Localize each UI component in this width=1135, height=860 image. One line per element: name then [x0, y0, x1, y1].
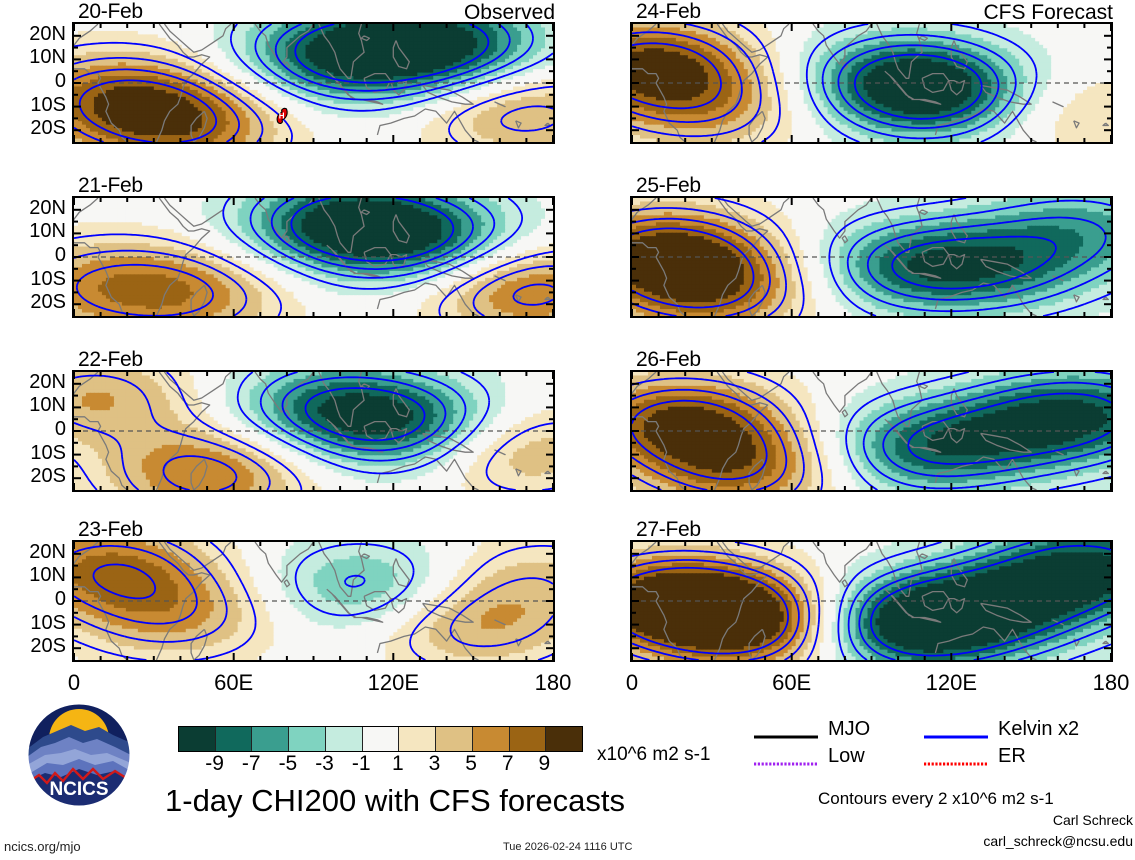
- legend-label: ER: [998, 745, 1026, 768]
- y-tick-label: 10N: [2, 565, 66, 585]
- legend-label: Low: [828, 745, 865, 768]
- legend-label: MJO: [828, 718, 870, 741]
- colorbar-units: x10^6 m2 s-1: [597, 744, 710, 766]
- y-tick-label: 20S: [2, 466, 66, 486]
- y-tick-label: 20N: [2, 24, 66, 44]
- colorbar-swatch: [546, 727, 582, 751]
- map-panel: [72, 540, 555, 662]
- column-header: Observed: [72, 1, 555, 25]
- colorbar: [178, 726, 583, 752]
- map-panel: [72, 370, 555, 492]
- y-tick-label: 10N: [2, 221, 66, 241]
- y-tick-label: 20S: [2, 636, 66, 656]
- panel-date-label: 25-Feb: [636, 175, 701, 196]
- legend-line: [754, 754, 818, 760]
- panel-date-label: 26-Feb: [636, 349, 701, 370]
- generation-timestamp: Tue 2026-02-24 1116 UTC: [503, 841, 632, 853]
- site-url[interactable]: ncics.org/mjo: [4, 839, 81, 854]
- y-tick-label: 10S: [2, 269, 66, 289]
- figure-title: 1-day CHI200 with CFS forecasts: [165, 783, 625, 819]
- colorbar-swatch: [436, 727, 473, 751]
- author-email: carl_schreck@ncsu.edu: [983, 833, 1133, 849]
- ncics-logo: NCICS: [27, 703, 131, 807]
- y-tick-label: 20N: [2, 542, 66, 562]
- x-tick-label: 180: [1066, 670, 1135, 696]
- y-tick-label: 10N: [2, 395, 66, 415]
- x-tick-label: 180: [508, 670, 598, 696]
- y-tick-label: 20N: [2, 372, 66, 392]
- map-panel: [630, 370, 1113, 492]
- panel-date-label: 23-Feb: [78, 519, 143, 540]
- x-tick-label: 120E: [906, 670, 996, 696]
- panel-date-label: 27-Feb: [636, 519, 701, 540]
- legend-line: [754, 727, 818, 733]
- contour-note: Contours every 2 x10^6 m2 s-1: [818, 789, 1054, 809]
- y-tick-label: 20N: [2, 198, 66, 218]
- column-header: CFS Forecast: [630, 1, 1113, 25]
- y-tick-label: 10N: [2, 47, 66, 67]
- map-panel: [630, 540, 1113, 662]
- colorbar-swatch: [216, 727, 253, 751]
- colorbar-swatch: [326, 727, 363, 751]
- x-tick-label: 0: [587, 670, 677, 696]
- map-panel: [630, 22, 1113, 144]
- y-tick-label: 0: [2, 589, 66, 609]
- panel-date-label: 22-Feb: [78, 349, 143, 370]
- x-tick-label: 0: [29, 670, 119, 696]
- colorbar-swatch: [473, 727, 510, 751]
- legend-label: Kelvin x2: [998, 718, 1079, 741]
- colorbar-swatch: [363, 727, 400, 751]
- colorbar-swatch: [179, 727, 216, 751]
- colorbar-swatch: [289, 727, 326, 751]
- legend-line: [924, 754, 988, 760]
- cyclone-marker: H: [274, 107, 290, 125]
- y-tick-label: 10S: [2, 613, 66, 633]
- panel-date-label: 21-Feb: [78, 175, 143, 196]
- map-panel: [72, 196, 555, 318]
- y-tick-label: 20S: [2, 292, 66, 312]
- x-tick-label: 60E: [189, 670, 279, 696]
- author-name: Carl Schreck: [1053, 812, 1133, 828]
- y-tick-label: 0: [2, 245, 66, 265]
- colorbar-swatch: [252, 727, 289, 751]
- x-tick-label: 120E: [348, 670, 438, 696]
- y-tick-label: 10S: [2, 95, 66, 115]
- map-panel: [630, 196, 1113, 318]
- y-tick-label: 0: [2, 71, 66, 91]
- colorbar-swatch: [510, 727, 547, 751]
- y-tick-label: 0: [2, 419, 66, 439]
- colorbar-swatch: [399, 727, 436, 751]
- map-panel: [72, 22, 555, 144]
- legend-line: [924, 727, 988, 733]
- y-tick-label: 10S: [2, 443, 66, 463]
- x-tick-label: 60E: [747, 670, 837, 696]
- colorbar-tick-label: 9: [514, 752, 574, 776]
- y-tick-label: 20S: [2, 118, 66, 138]
